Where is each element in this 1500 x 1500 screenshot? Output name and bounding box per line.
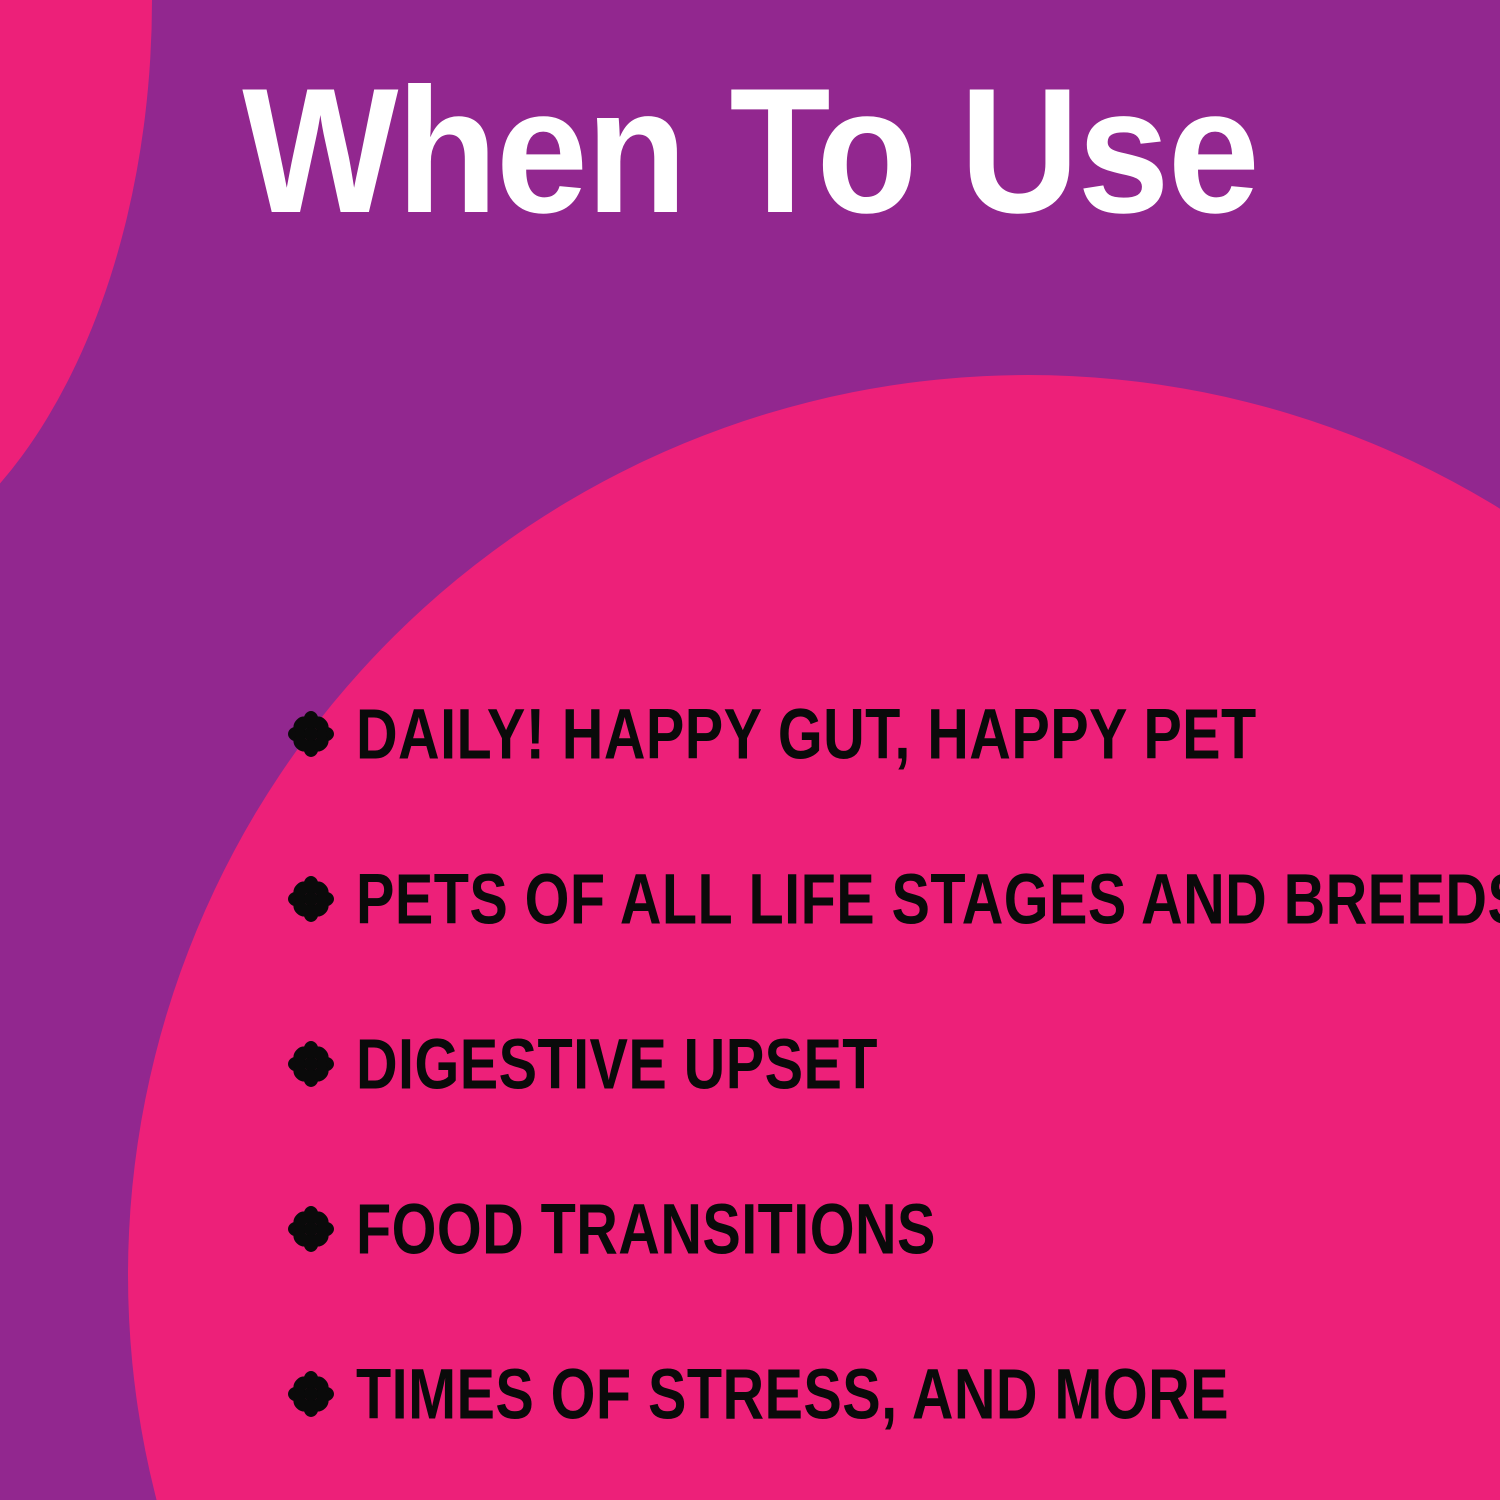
page-title-container: When To Use <box>0 62 1500 240</box>
flower-bullet-icon <box>288 1041 334 1087</box>
page-title: When To Use <box>242 62 1258 240</box>
list-item: PETS OF ALL LIFE STAGES AND BREEDS <box>288 853 1468 945</box>
list-item-label: DAILY! HAPPY GUT, HAPPY PET <box>356 698 1257 769</box>
poster-canvas: When To Use <box>0 0 1500 1500</box>
list-item-label: TIMES OF STRESS, AND MORE <box>356 1358 1229 1429</box>
list-item: FOOD TRANSITIONS <box>288 1183 1468 1275</box>
list-item-label: PETS OF ALL LIFE STAGES AND BREEDS <box>356 863 1500 934</box>
flower-bullet-icon <box>288 1371 334 1417</box>
benefits-list: DAILY! HAPPY GUT, HAPPY PET <box>288 688 1468 1440</box>
list-item-label: FOOD TRANSITIONS <box>356 1193 936 1264</box>
list-item-label: DIGESTIVE UPSET <box>356 1028 878 1099</box>
flower-bullet-icon <box>288 1206 334 1252</box>
list-item: TIMES OF STRESS, AND MORE <box>288 1348 1468 1440</box>
list-item: DAILY! HAPPY GUT, HAPPY PET <box>288 688 1468 780</box>
flower-bullet-icon <box>288 876 334 922</box>
flower-bullet-icon <box>288 711 334 757</box>
list-item: DIGESTIVE UPSET <box>288 1018 1468 1110</box>
